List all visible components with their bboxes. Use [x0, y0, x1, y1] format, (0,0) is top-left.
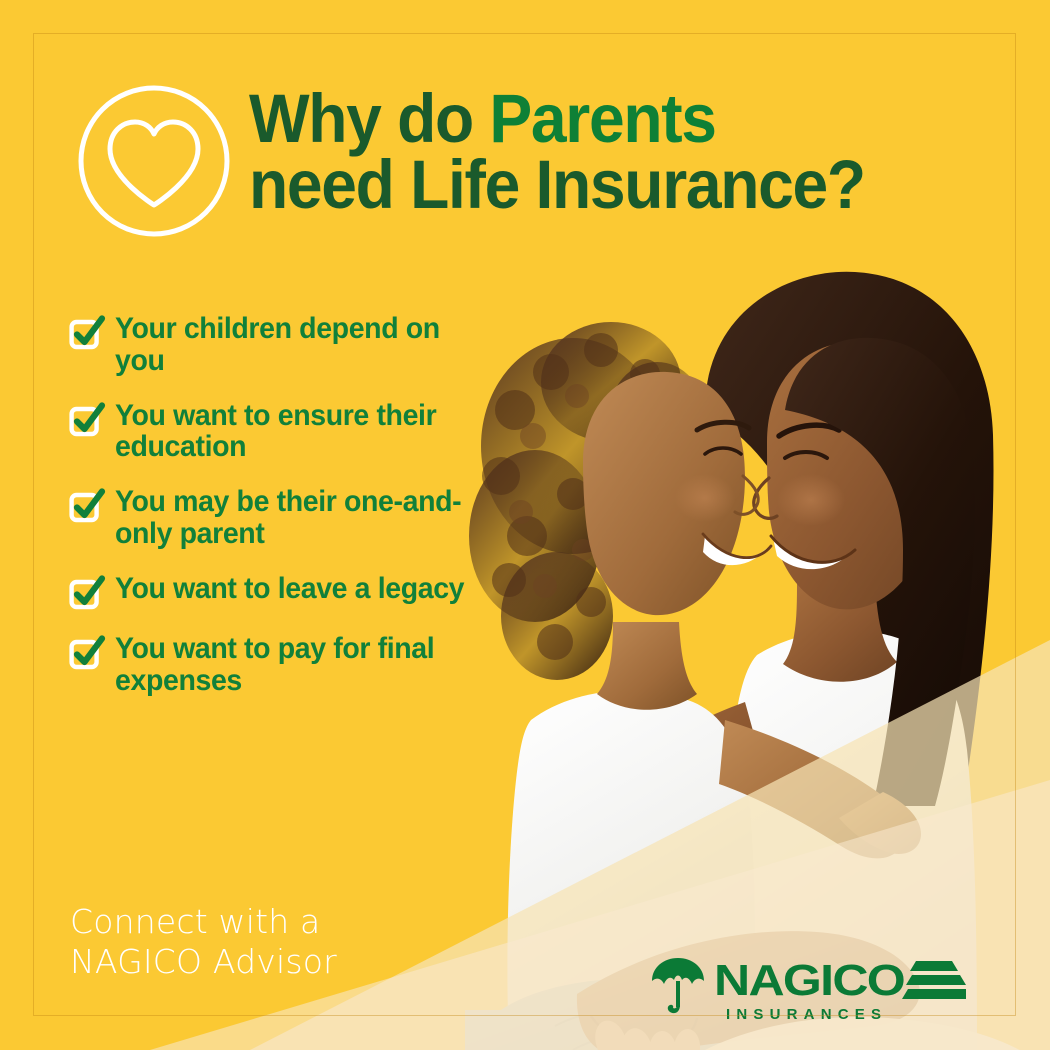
checkbox-checked-icon [69, 316, 103, 350]
mother-and-daughter-embracing-photo [405, 250, 1050, 1050]
three-bar-stack-icon [902, 961, 966, 999]
list-item-label: You may be their one-and-only parent [115, 485, 470, 550]
list-item-label: You want to leave a legacy [115, 572, 464, 605]
heart-in-circle-icon [73, 80, 235, 242]
nagico-logo: NAGICO INSURANCES [648, 955, 966, 1027]
logo-tagline: INSURANCES [726, 1006, 887, 1023]
cta-line-1: Connect with a [70, 902, 337, 942]
logo-wordmark: NAGICO [714, 956, 904, 1005]
list-item-label: You want to pay for final expenses [115, 632, 470, 697]
list-item: You want to ensure their education [69, 399, 489, 464]
checkbox-checked-icon [69, 489, 103, 523]
checkbox-checked-icon [69, 403, 103, 437]
list-item: You want to leave a legacy [69, 572, 489, 610]
checkbox-checked-icon [69, 576, 103, 610]
list-item-label: You want to ensure their education [115, 399, 470, 464]
list-item: Your children depend on you [69, 312, 489, 377]
cta-line-2: NAGICO Advisor [70, 942, 337, 982]
list-item: You want to pay for final expenses [69, 632, 489, 697]
poster-canvas: Why do Parents need Life Insurance? Your… [0, 0, 1050, 1050]
benefits-list: Your children depend on you You want to … [69, 312, 489, 696]
heading-line2: need Life Insurance? [249, 152, 865, 218]
page-title: Why do Parents need Life Insurance? [249, 86, 865, 218]
call-to-action-text: Connect with a NAGICO Advisor [70, 902, 337, 983]
umbrella-icon [652, 958, 704, 1013]
list-item-label: Your children depend on you [115, 312, 470, 377]
list-item: You may be their one-and-only parent [69, 485, 489, 550]
checkbox-checked-icon [69, 636, 103, 670]
